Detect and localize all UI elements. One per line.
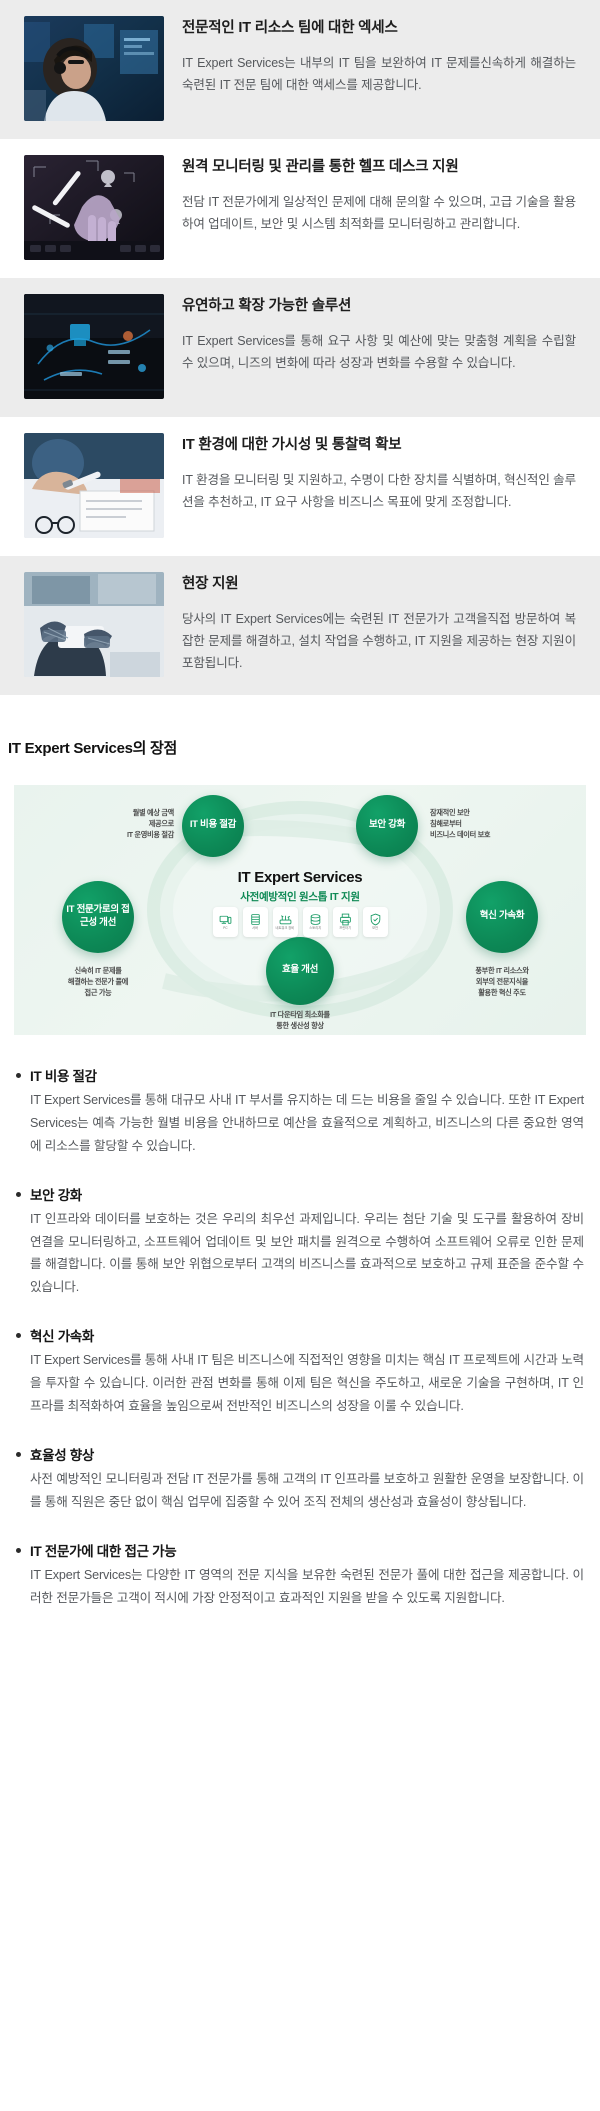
feature-body: IT Expert Services를 통해 요구 사항 및 예산에 맞는 맞춤… bbox=[182, 330, 576, 375]
benefit-body: IT Expert Services를 통해 사내 IT 팀은 비즈니스에 직접… bbox=[30, 1349, 584, 1418]
network-diagram-photo bbox=[24, 294, 164, 399]
benefit-head: IT 전문가에 대한 접근 가능 bbox=[16, 1540, 584, 1560]
infographic-icon-row: PC 서버 네트워크 장비 스토리지 프린터기 bbox=[14, 907, 586, 937]
benefit-head: 효율성 향상 bbox=[16, 1444, 584, 1464]
icon-card-label: 보안 bbox=[372, 927, 378, 930]
bullet-icon bbox=[16, 1192, 21, 1197]
icon-card-label: 스토리지 bbox=[309, 927, 321, 930]
infographic-node-security: 보안 강화 bbox=[356, 795, 418, 857]
feature-body: IT Expert Services는 내부의 IT 팀을 보완하여 IT 문제… bbox=[182, 52, 576, 97]
benefit-title: 혁신 가속화 bbox=[30, 1325, 94, 1345]
feature-card: 원격 모니터링 및 관리를 통한 헬프 데스크 지원 전담 IT 전문가에게 일… bbox=[0, 139, 600, 278]
feature-title: 현장 지원 bbox=[182, 574, 576, 596]
infographic-node-cost: IT 비용 절감 bbox=[182, 795, 244, 857]
feature-text: 현장 지원 당사의 IT Expert Services에는 숙련된 IT 전문… bbox=[182, 572, 576, 675]
infographic-center-title: IT Expert Services bbox=[14, 869, 586, 886]
feature-card: 현장 지원 당사의 IT Expert Services에는 숙련된 IT 전문… bbox=[0, 556, 600, 695]
meeting-notes-photo bbox=[24, 433, 164, 538]
bullet-icon bbox=[16, 1548, 21, 1553]
list-item: 효율성 향상 사전 예방적인 모니터링과 전담 IT 전문가를 통해 고객의 I… bbox=[16, 1444, 584, 1514]
benefit-title: 보안 강화 bbox=[30, 1184, 82, 1204]
server-rack-icon-card: 서버 bbox=[243, 907, 268, 937]
feature-card-list: 전문적인 IT 리소스 팀에 대한 엑세스 IT Expert Services… bbox=[0, 0, 600, 695]
feature-title: 유연하고 확장 가능한 솔루션 bbox=[182, 296, 576, 318]
benefits-list: IT 비용 절감 IT Expert Services를 통해 대규모 사내 I… bbox=[0, 1035, 600, 1640]
icon-card-label: 서버 bbox=[252, 927, 258, 930]
shield-check-icon-card: 보안 bbox=[363, 907, 388, 937]
hand-on-keyboard-photo bbox=[24, 155, 164, 260]
pc-monitor-icon-card: PC bbox=[213, 907, 238, 937]
benefit-body: IT Expert Services는 다양한 IT 영역의 전문 지식을 보유… bbox=[30, 1564, 584, 1610]
feature-title: 전문적인 IT 리소스 팀에 대한 엑세스 bbox=[182, 18, 576, 40]
list-item: 보안 강화 IT 인프라와 데이터를 보호하는 것은 우리의 최우선 과제입니다… bbox=[16, 1184, 584, 1300]
bullet-icon bbox=[16, 1452, 21, 1457]
infographic-caption-innovation: 풍부한 IT 리소스와 외부의 전문지식을 활용한 혁신 주도 bbox=[434, 965, 570, 998]
benefit-body: 사전 예방적인 모니터링과 전담 IT 전문가를 통해 고객의 IT 인프라를 … bbox=[30, 1468, 584, 1514]
icon-card-label: 프린터기 bbox=[339, 927, 351, 930]
infographic-caption-cost: 월별 예상 금액 제공으로 IT 운영비용 절감 bbox=[74, 807, 174, 840]
printer-icon-card: 프린터기 bbox=[333, 907, 358, 937]
storage-icon-card: 스토리지 bbox=[303, 907, 328, 937]
feature-text: 원격 모니터링 및 관리를 통한 헬프 데스크 지원 전담 IT 전문가에게 일… bbox=[182, 155, 576, 235]
printer-icon bbox=[339, 913, 352, 926]
benefit-title: IT 비용 절감 bbox=[30, 1065, 97, 1085]
page-title: IT Expert Services의 장점 bbox=[0, 737, 600, 772]
benefit-title: IT 전문가에 대한 접근 가능 bbox=[30, 1540, 176, 1560]
feature-card: 유연하고 확장 가능한 솔루션 IT Expert Services를 통해 요… bbox=[0, 278, 600, 417]
feature-body: 전담 IT 전문가에게 일상적인 문제에 대해 문의할 수 있으며, 고급 기술… bbox=[182, 191, 576, 236]
benefit-head: 혁신 가속화 bbox=[16, 1325, 584, 1345]
benefits-infographic: IT 비용 절감 월별 예상 금액 제공으로 IT 운영비용 절감 보안 강화 … bbox=[14, 785, 586, 1035]
benefit-body: IT 인프라와 데이터를 보호하는 것은 우리의 최우선 과제입니다. 우리는 … bbox=[30, 1208, 584, 1300]
infographic-center-subtitle: 사전예방적인 원스톱 IT 지원 bbox=[14, 889, 586, 904]
list-item: IT 전문가에 대한 접근 가능 IT Expert Services는 다양한… bbox=[16, 1540, 584, 1610]
server-rack-icon bbox=[249, 913, 262, 926]
call-center-agent-photo bbox=[24, 16, 164, 121]
bullet-icon bbox=[16, 1333, 21, 1338]
onsite-technician-photo bbox=[24, 572, 164, 677]
bullet-icon bbox=[16, 1073, 21, 1078]
node-label: 보안 강화 bbox=[369, 819, 405, 832]
benefit-head: 보안 강화 bbox=[16, 1184, 584, 1204]
icon-card-label: 네트워크 장비 bbox=[276, 927, 295, 930]
list-item: IT 비용 절감 IT Expert Services를 통해 대규모 사내 I… bbox=[16, 1065, 584, 1158]
feature-card: IT 환경에 대한 가시성 및 통찰력 확보 IT 환경을 모니터링 및 지원하… bbox=[0, 417, 600, 556]
shield-check-icon bbox=[369, 913, 382, 926]
node-label: 효율 개선 bbox=[282, 964, 318, 977]
feature-card: 전문적인 IT 리소스 팀에 대한 엑세스 IT Expert Services… bbox=[0, 0, 600, 139]
infographic-caption-efficiency: IT 다운타임 최소화를 통한 생산성 향상 bbox=[220, 1009, 380, 1031]
section-spacer bbox=[0, 695, 600, 725]
infographic-node-efficiency: 효율 개선 bbox=[266, 937, 334, 1005]
benefit-title: 효율성 향상 bbox=[30, 1444, 94, 1464]
benefit-body: IT Expert Services를 통해 대규모 사내 IT 부서를 유지하… bbox=[30, 1089, 584, 1158]
icon-card-label: PC bbox=[223, 927, 227, 930]
infographic-caption-security: 잠재적인 보안 침해로부터 비즈니스 데이터 보호 bbox=[430, 807, 550, 840]
feature-body: 당사의 IT Expert Services에는 숙련된 IT 전문가가 고객을… bbox=[182, 608, 576, 675]
feature-text: 전문적인 IT 리소스 팀에 대한 엑세스 IT Expert Services… bbox=[182, 16, 576, 96]
pc-monitor-icon bbox=[219, 913, 232, 926]
network-switch-icon-card: 네트워크 장비 bbox=[273, 907, 298, 937]
infographic-caption-access: 신속히 IT 문제를 해결하는 전문가 풀에 접근 가능 bbox=[34, 965, 162, 998]
list-item: 혁신 가속화 IT Expert Services를 통해 사내 IT 팀은 비… bbox=[16, 1325, 584, 1418]
benefit-head: IT 비용 절감 bbox=[16, 1065, 584, 1085]
storage-icon bbox=[309, 913, 322, 926]
feature-text: IT 환경에 대한 가시성 및 통찰력 확보 IT 환경을 모니터링 및 지원하… bbox=[182, 433, 576, 513]
network-switch-icon bbox=[279, 913, 292, 926]
feature-title: 원격 모니터링 및 관리를 통한 헬프 데스크 지원 bbox=[182, 157, 576, 179]
feature-body: IT 환경을 모니터링 및 지원하고, 수명이 다한 장치를 식별하며, 혁신적… bbox=[182, 469, 576, 514]
node-label: IT 비용 절감 bbox=[190, 819, 236, 832]
feature-title: IT 환경에 대한 가시성 및 통찰력 확보 bbox=[182, 435, 576, 457]
feature-text: 유연하고 확장 가능한 솔루션 IT Expert Services를 통해 요… bbox=[182, 294, 576, 374]
